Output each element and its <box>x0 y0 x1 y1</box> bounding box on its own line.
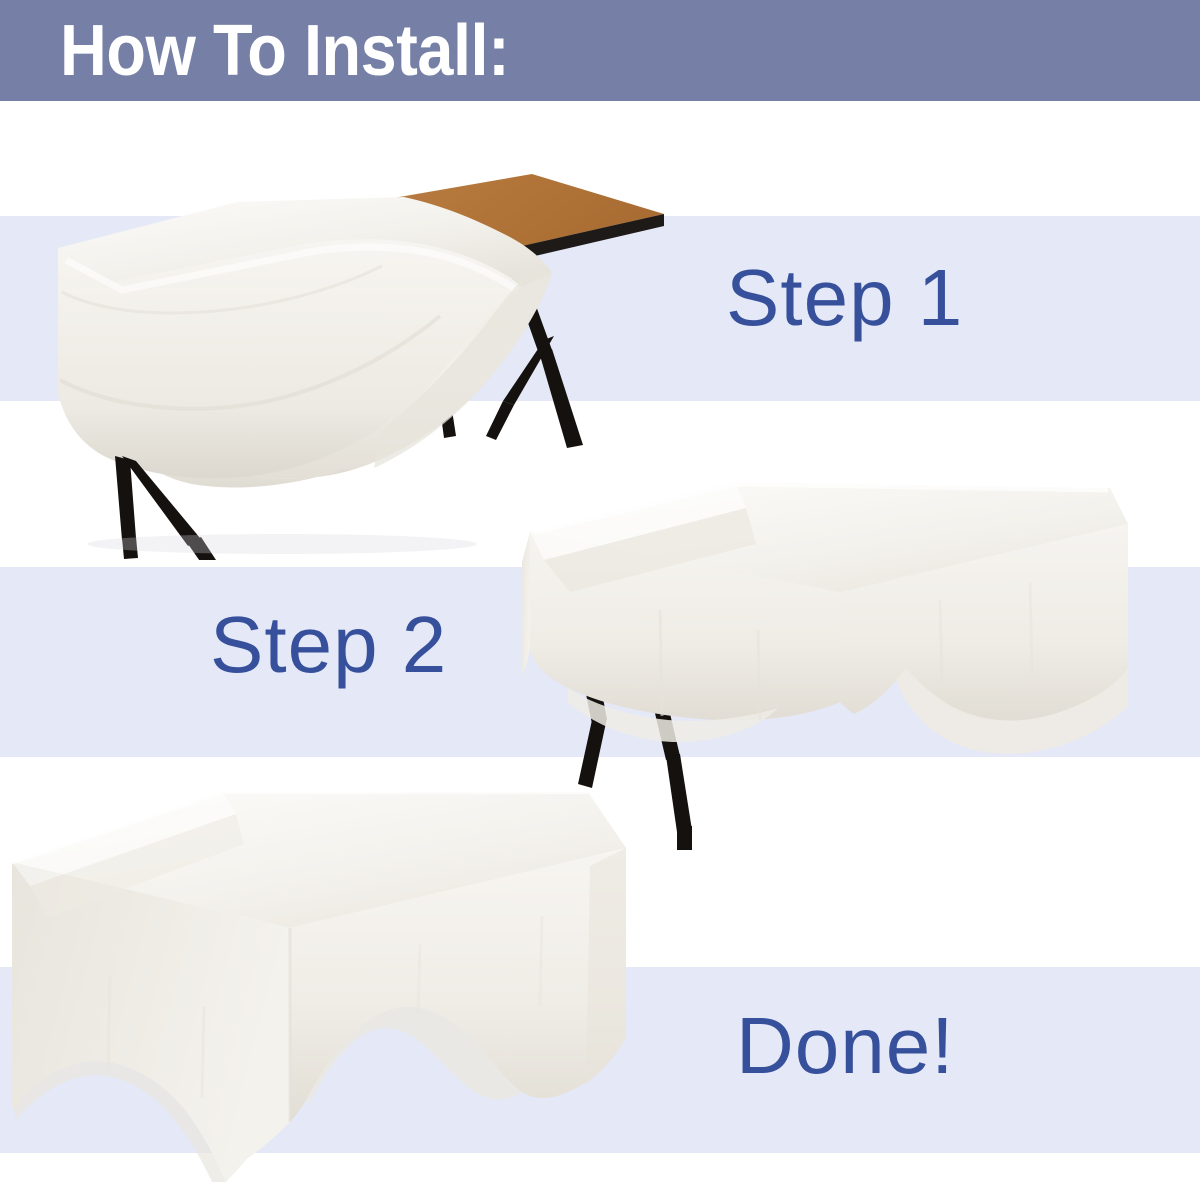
page-title: How To Install: <box>60 15 559 87</box>
done-illustration <box>0 770 680 1186</box>
step-1-label: Step 1 <box>726 258 963 338</box>
infographic-canvas: How To Install: <box>0 0 1200 1186</box>
stretch-cover-fitted <box>12 792 626 1182</box>
header-band: How To Install: <box>0 0 1200 101</box>
done-label: Done! <box>736 1006 954 1086</box>
page-title-text: How To Install: <box>60 15 509 87</box>
stretch-cover-draped <box>58 197 552 488</box>
stretch-cover-loose <box>522 482 1128 754</box>
step-2-label: Step 2 <box>210 605 447 685</box>
